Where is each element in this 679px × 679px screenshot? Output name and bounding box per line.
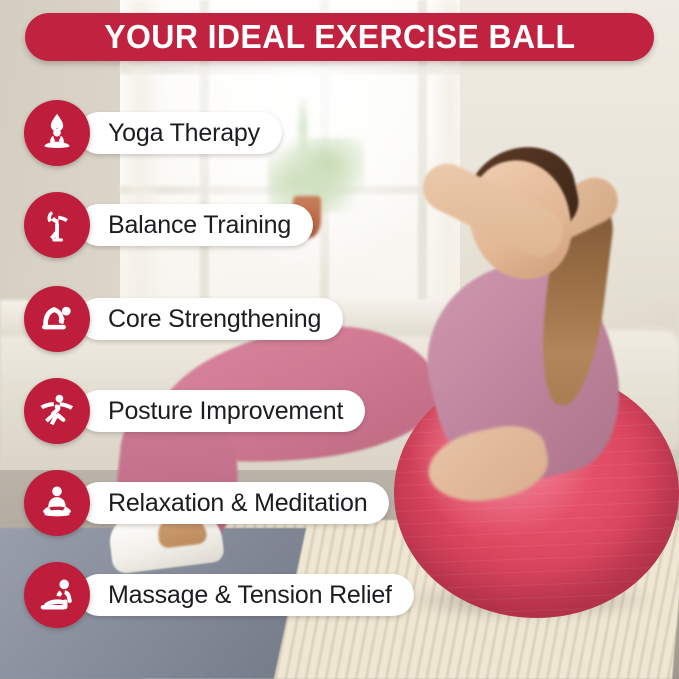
feature-label: Relaxation & Meditation — [108, 489, 367, 518]
lotus-meditation-icon — [24, 100, 90, 166]
feature-label-pill: Yoga Therapy — [78, 112, 282, 154]
feature-row: Core Strengthening — [24, 286, 343, 352]
feature-row: Relaxation & Meditation — [24, 470, 389, 536]
feature-list: Yoga Therapy Balance Training — [0, 0, 679, 679]
feature-label: Posture Improvement — [108, 397, 343, 426]
feature-label-pill: Relaxation & Meditation — [78, 482, 389, 524]
massage-therapy-icon — [24, 562, 90, 628]
feature-label-pill: Balance Training — [78, 204, 313, 246]
feature-label-pill: Core Strengthening — [78, 298, 343, 340]
crunch-situp-icon — [24, 286, 90, 352]
feature-label: Yoga Therapy — [108, 119, 260, 148]
warrior-stretch-icon — [24, 378, 90, 444]
dancer-balance-pose-icon — [24, 192, 90, 258]
feature-label-pill: Posture Improvement — [78, 390, 365, 432]
feature-row: Yoga Therapy — [24, 100, 282, 166]
feature-row: Posture Improvement — [24, 378, 365, 444]
seated-meditation-icon — [24, 470, 90, 536]
feature-row: Massage & Tension Relief — [24, 562, 414, 628]
feature-label: Core Strengthening — [108, 305, 321, 334]
feature-label-pill: Massage & Tension Relief — [78, 574, 414, 616]
feature-label: Balance Training — [108, 211, 291, 240]
feature-label: Massage & Tension Relief — [108, 581, 392, 610]
feature-row: Balance Training — [24, 192, 313, 258]
product-infographic: YOUR IDEAL EXERCISE BALL Yoga Therapy — [0, 0, 679, 679]
